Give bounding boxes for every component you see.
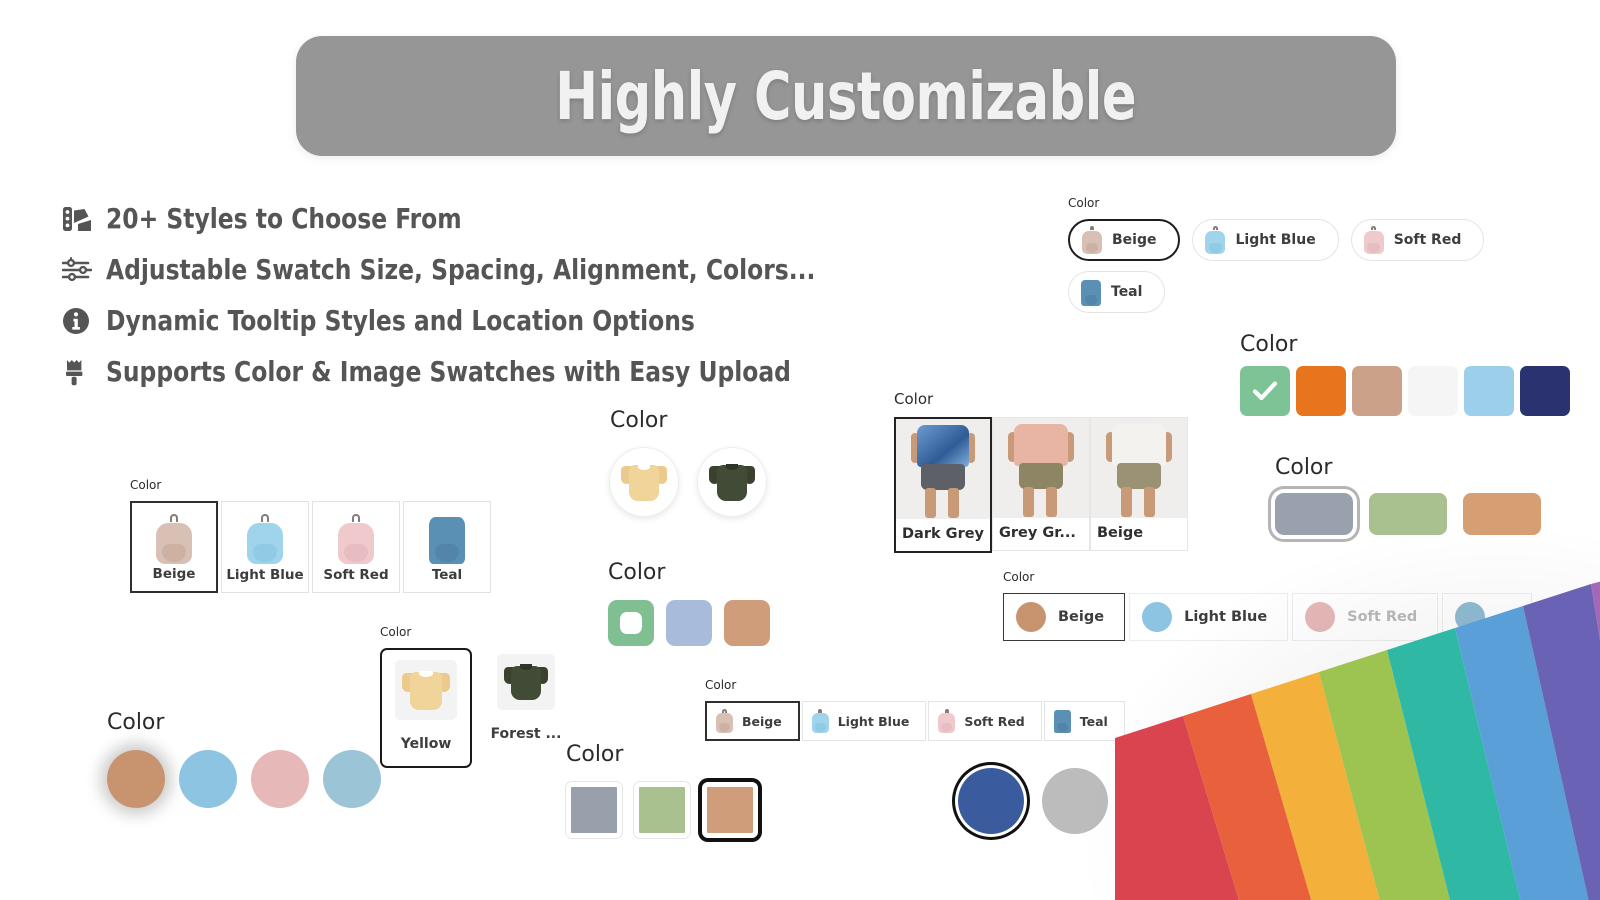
polo-shirt-thumb-icon [709,461,755,503]
color-swatch-tan[interactable] [724,600,770,646]
swatch-option-beige[interactable]: Beige [130,501,218,593]
backpack-thumb-icon [247,514,283,564]
swatch-label: Soft Red [1347,609,1417,625]
swatch-option-beige[interactable]: Beige [705,701,800,741]
model-photo [896,419,990,519]
check-icon [1250,376,1280,406]
swatch-label: Teal [1111,284,1142,300]
swatch-label: Beige [1112,232,1156,248]
color-swatch-grey[interactable] [1042,768,1108,834]
swatch-group-framed-squares: Color [566,742,770,838]
swatch-option-light-blue[interactable]: Light Blue [1129,593,1288,641]
group-label: Color [1003,570,1563,584]
feature-label: Adjustable Swatch Size, Spacing, Alignme… [106,253,815,286]
model-photo [1091,418,1187,518]
swatch-group-circle-cards: Color Beige Light Blue Soft Red [1003,570,1563,641]
swatch-option-beige[interactable]: Beige [1090,417,1188,551]
swatch-label: Beige [742,714,782,729]
color-dot [1305,602,1335,632]
model-photo [993,418,1089,518]
swatch-label: Beige [153,566,196,591]
swatch-option-dark-grey[interactable]: Dark Grey [894,417,992,553]
swatch-label: Soft Red [1394,232,1462,248]
swatch-label: Teal [432,567,462,592]
group-label: Color [1240,332,1576,357]
color-dot [1455,602,1485,632]
page-title: Highly Customizable [556,58,1137,135]
color-swatch-orange[interactable] [1296,366,1346,416]
group-label: Color [1275,455,1557,480]
swatch-label: Light Blue [1184,609,1267,625]
color-swatch-grey-blue[interactable] [1275,493,1353,535]
backpack-thumb-icon [156,514,192,564]
promo-banner-canvas: Highly Customizable 20+ Styles to Choose… [0,0,1600,900]
color-swatch-fan-icon [62,206,106,232]
backpack-thumb-icon [1054,709,1071,733]
swatch-group-polo-circles: Color [610,408,786,516]
swatch-group-color-squares: Color [1240,332,1576,416]
color-swatch-tan[interactable] [1352,366,1402,416]
color-swatch-tan[interactable] [702,782,758,838]
polo-shirt-thumb-icon [402,668,450,712]
swatch-label: Light Blue [1235,232,1315,248]
group-label: Color [107,710,395,735]
color-dot [1142,602,1172,632]
swatch-label: Beige [1058,609,1104,625]
swatch-option-extra[interactable] [1442,593,1532,641]
color-swatch-white[interactable] [1408,366,1458,416]
group-label: Color [130,478,491,492]
backpack-thumb-icon [938,709,955,733]
color-swatch-grey-blue[interactable] [566,782,622,838]
color-swatch-tan[interactable] [1463,493,1541,535]
group-label: Color [705,678,1125,692]
swatch-group-model-photos: Color Dark Grey Grey Gr... Beige [894,390,1188,553]
swatch-label: Light Blue [226,567,303,592]
sliders-icon [62,257,106,283]
swatch-group-backpack-cards: Color Beige Light Blue Soft Red Teal [130,478,491,593]
swatch-option-yellow[interactable] [610,448,678,516]
swatch-option-soft-red[interactable]: Soft Red [928,701,1041,741]
swatch-option-forest-green[interactable] [698,448,766,516]
swatch-option-grey-green[interactable]: Grey Gr... [992,417,1090,551]
swatch-group-rounded-squares: Color [608,560,782,646]
swatch-label: Yellow [401,720,452,766]
color-swatch-sage-green[interactable] [1369,493,1447,535]
backpack-thumb-icon [1364,226,1384,254]
swatch-option-teal[interactable]: Teal [1068,271,1165,313]
swatch-option-light-blue[interactable]: Light Blue [221,501,309,593]
backpack-thumb-icon [429,514,465,564]
group-label: Color [608,560,782,585]
color-swatch-light-blue[interactable] [179,750,237,808]
color-swatch-tan[interactable] [107,750,165,808]
feature-item-tooltip: Dynamic Tooltip Styles and Location Opti… [62,295,962,346]
polo-shirt-thumb-icon [621,461,667,503]
color-swatch-steel-blue[interactable] [323,750,381,808]
feature-label: Dynamic Tooltip Styles and Location Opti… [106,304,695,337]
paintbrush-icon [62,357,106,387]
backpack-thumb-icon [812,709,829,733]
swatch-group-plain-circles: Color [107,710,395,808]
group-label: Color [566,742,770,767]
backpack-thumb-icon [1082,226,1102,254]
info-circle-icon [62,306,106,336]
swatch-option-light-blue[interactable]: Light Blue [802,701,927,741]
swatch-option-beige[interactable]: Beige [1068,219,1180,261]
backpack-thumb-icon [338,514,374,564]
color-swatch-periwinkle[interactable] [666,600,712,646]
selected-indicator [620,612,642,634]
feature-list: 20+ Styles to Choose From Adjustable Swa… [62,193,962,397]
swatch-label: Grey Gr... [993,518,1089,550]
color-swatch-royal-blue[interactable] [958,768,1024,834]
swatch-label: Soft Red [964,714,1024,729]
color-swatch-light-blue[interactable] [1464,366,1514,416]
backpack-thumb-icon [716,709,733,733]
swatch-label: Forest ... [491,710,562,756]
swatch-label: Light Blue [838,714,910,729]
swatch-option-light-blue[interactable]: Light Blue [1192,219,1338,261]
swatch-group-wide-rects: Color [1275,455,1557,535]
swatch-label: Dark Grey [896,519,990,551]
group-label: Color [894,390,1188,408]
feature-item-adjustable: Adjustable Swatch Size, Spacing, Alignme… [62,244,962,295]
color-swatch-pink[interactable] [251,750,309,808]
color-swatch-green[interactable] [608,600,654,646]
backpack-thumb-icon [1081,278,1101,306]
color-dot [1016,602,1046,632]
group-label: Color [1068,196,1508,210]
swatch-option-soft-red[interactable]: Soft Red [1292,593,1438,641]
feature-label: Supports Color & Image Swatches with Eas… [106,355,791,388]
polo-shirt-thumb-icon [504,662,548,702]
swatch-group-backpack-pills: Color Beige Light Blue Soft Red [1068,196,1508,323]
swatch-option-teal[interactable]: Teal [403,501,491,593]
swatch-option-forest[interactable]: Forest ... [488,648,564,756]
feature-item-styles: 20+ Styles to Choose From [62,193,962,244]
swatch-label: Beige [1091,518,1187,550]
swatch-option-soft-red[interactable]: Soft Red [312,501,400,593]
feature-item-upload: Supports Color & Image Swatches with Eas… [62,346,962,397]
header-banner: Highly Customizable [296,36,1396,156]
swatch-label: Teal [1080,714,1108,729]
color-swatch-green[interactable] [1240,366,1290,416]
group-label: Color [610,408,786,433]
group-label: Color [380,625,564,639]
backpack-thumb-icon [1205,226,1225,254]
swatch-label: Soft Red [323,567,388,592]
swatch-option-beige[interactable]: Beige [1003,593,1125,641]
swatch-option-teal[interactable]: Teal [1044,701,1125,741]
color-swatch-sage-green[interactable] [634,782,690,838]
swatch-group-big-circles [958,768,1126,834]
swatch-option-soft-red[interactable]: Soft Red [1351,219,1485,261]
swatch-group-polo-cards: Color Yellow Forest ... [380,625,564,768]
color-swatch-navy[interactable] [1520,366,1570,416]
feature-label: 20+ Styles to Choose From [106,202,462,235]
swatch-group-backpack-chips: Color Beige Light Blue Soft Red Teal [705,678,1125,741]
